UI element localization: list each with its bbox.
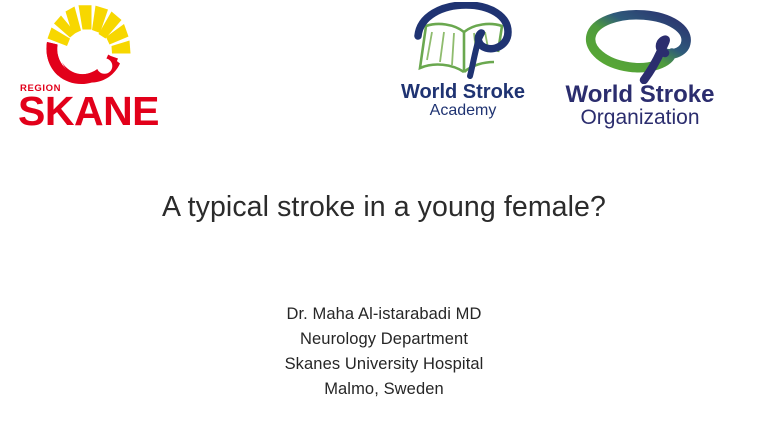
- logo-world-stroke-organization-line2: Organization: [548, 107, 732, 129]
- logo-world-stroke-academy-line2: Academy: [388, 103, 538, 120]
- logo-region-skane-line2: SKANE: [18, 91, 159, 132]
- skane-sunburst-ram-icon: [34, 4, 138, 92]
- author-institution: Skanes University Hospital: [0, 352, 768, 377]
- presentation-slide: REGION SKANE: [0, 0, 768, 432]
- logo-world-stroke-organization: World Stroke Organization: [548, 0, 732, 136]
- page-title: A typical stroke in a young female?: [0, 190, 768, 224]
- globe-spiral-icon: [576, 0, 706, 84]
- open-book-swoosh-icon: [410, 2, 518, 84]
- logo-world-stroke-academy: World Stroke Academy: [388, 2, 538, 134]
- logo-world-stroke-academy-line1: World Stroke: [388, 82, 538, 103]
- logo-row: REGION SKANE: [0, 0, 768, 140]
- author-block: Dr. Maha Al-istarabadi MD Neurology Depa…: [0, 302, 768, 402]
- author-name: Dr. Maha Al-istarabadi MD: [0, 302, 768, 327]
- logo-world-stroke-organization-line1: World Stroke: [548, 82, 732, 107]
- logo-region-skane: REGION SKANE: [18, 4, 164, 134]
- author-department: Neurology Department: [0, 327, 768, 352]
- author-location: Malmo, Sweden: [0, 377, 768, 402]
